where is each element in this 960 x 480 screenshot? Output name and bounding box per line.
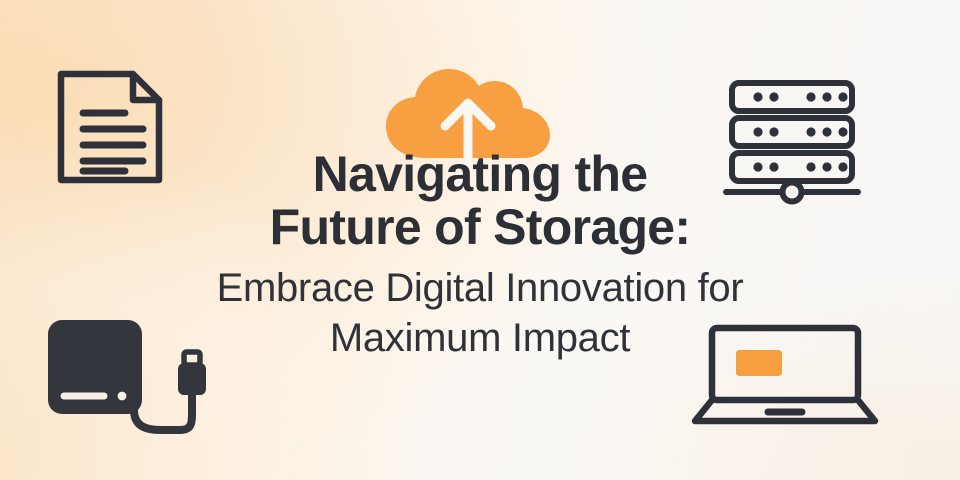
storage-banner: Navigating the Future of Storage: Embrac… xyxy=(0,0,960,480)
headline-line-1: Navigating the xyxy=(0,148,960,201)
server-unit-2 xyxy=(732,118,852,146)
server-unit-1 xyxy=(732,83,852,111)
banner-text-block: Navigating the Future of Storage: Embrac… xyxy=(0,148,960,363)
page-subtitle: Embrace Digital Innovation for Maximum I… xyxy=(0,263,960,363)
hard-drive-led xyxy=(118,392,127,401)
subheadline-line-1: Embrace Digital Innovation for xyxy=(0,263,960,313)
headline-line-2: Future of Storage: xyxy=(0,201,960,254)
subheadline-line-2: Maximum Impact xyxy=(0,313,960,363)
usb-cable xyxy=(134,392,192,430)
page-title: Navigating the Future of Storage: xyxy=(0,148,960,254)
